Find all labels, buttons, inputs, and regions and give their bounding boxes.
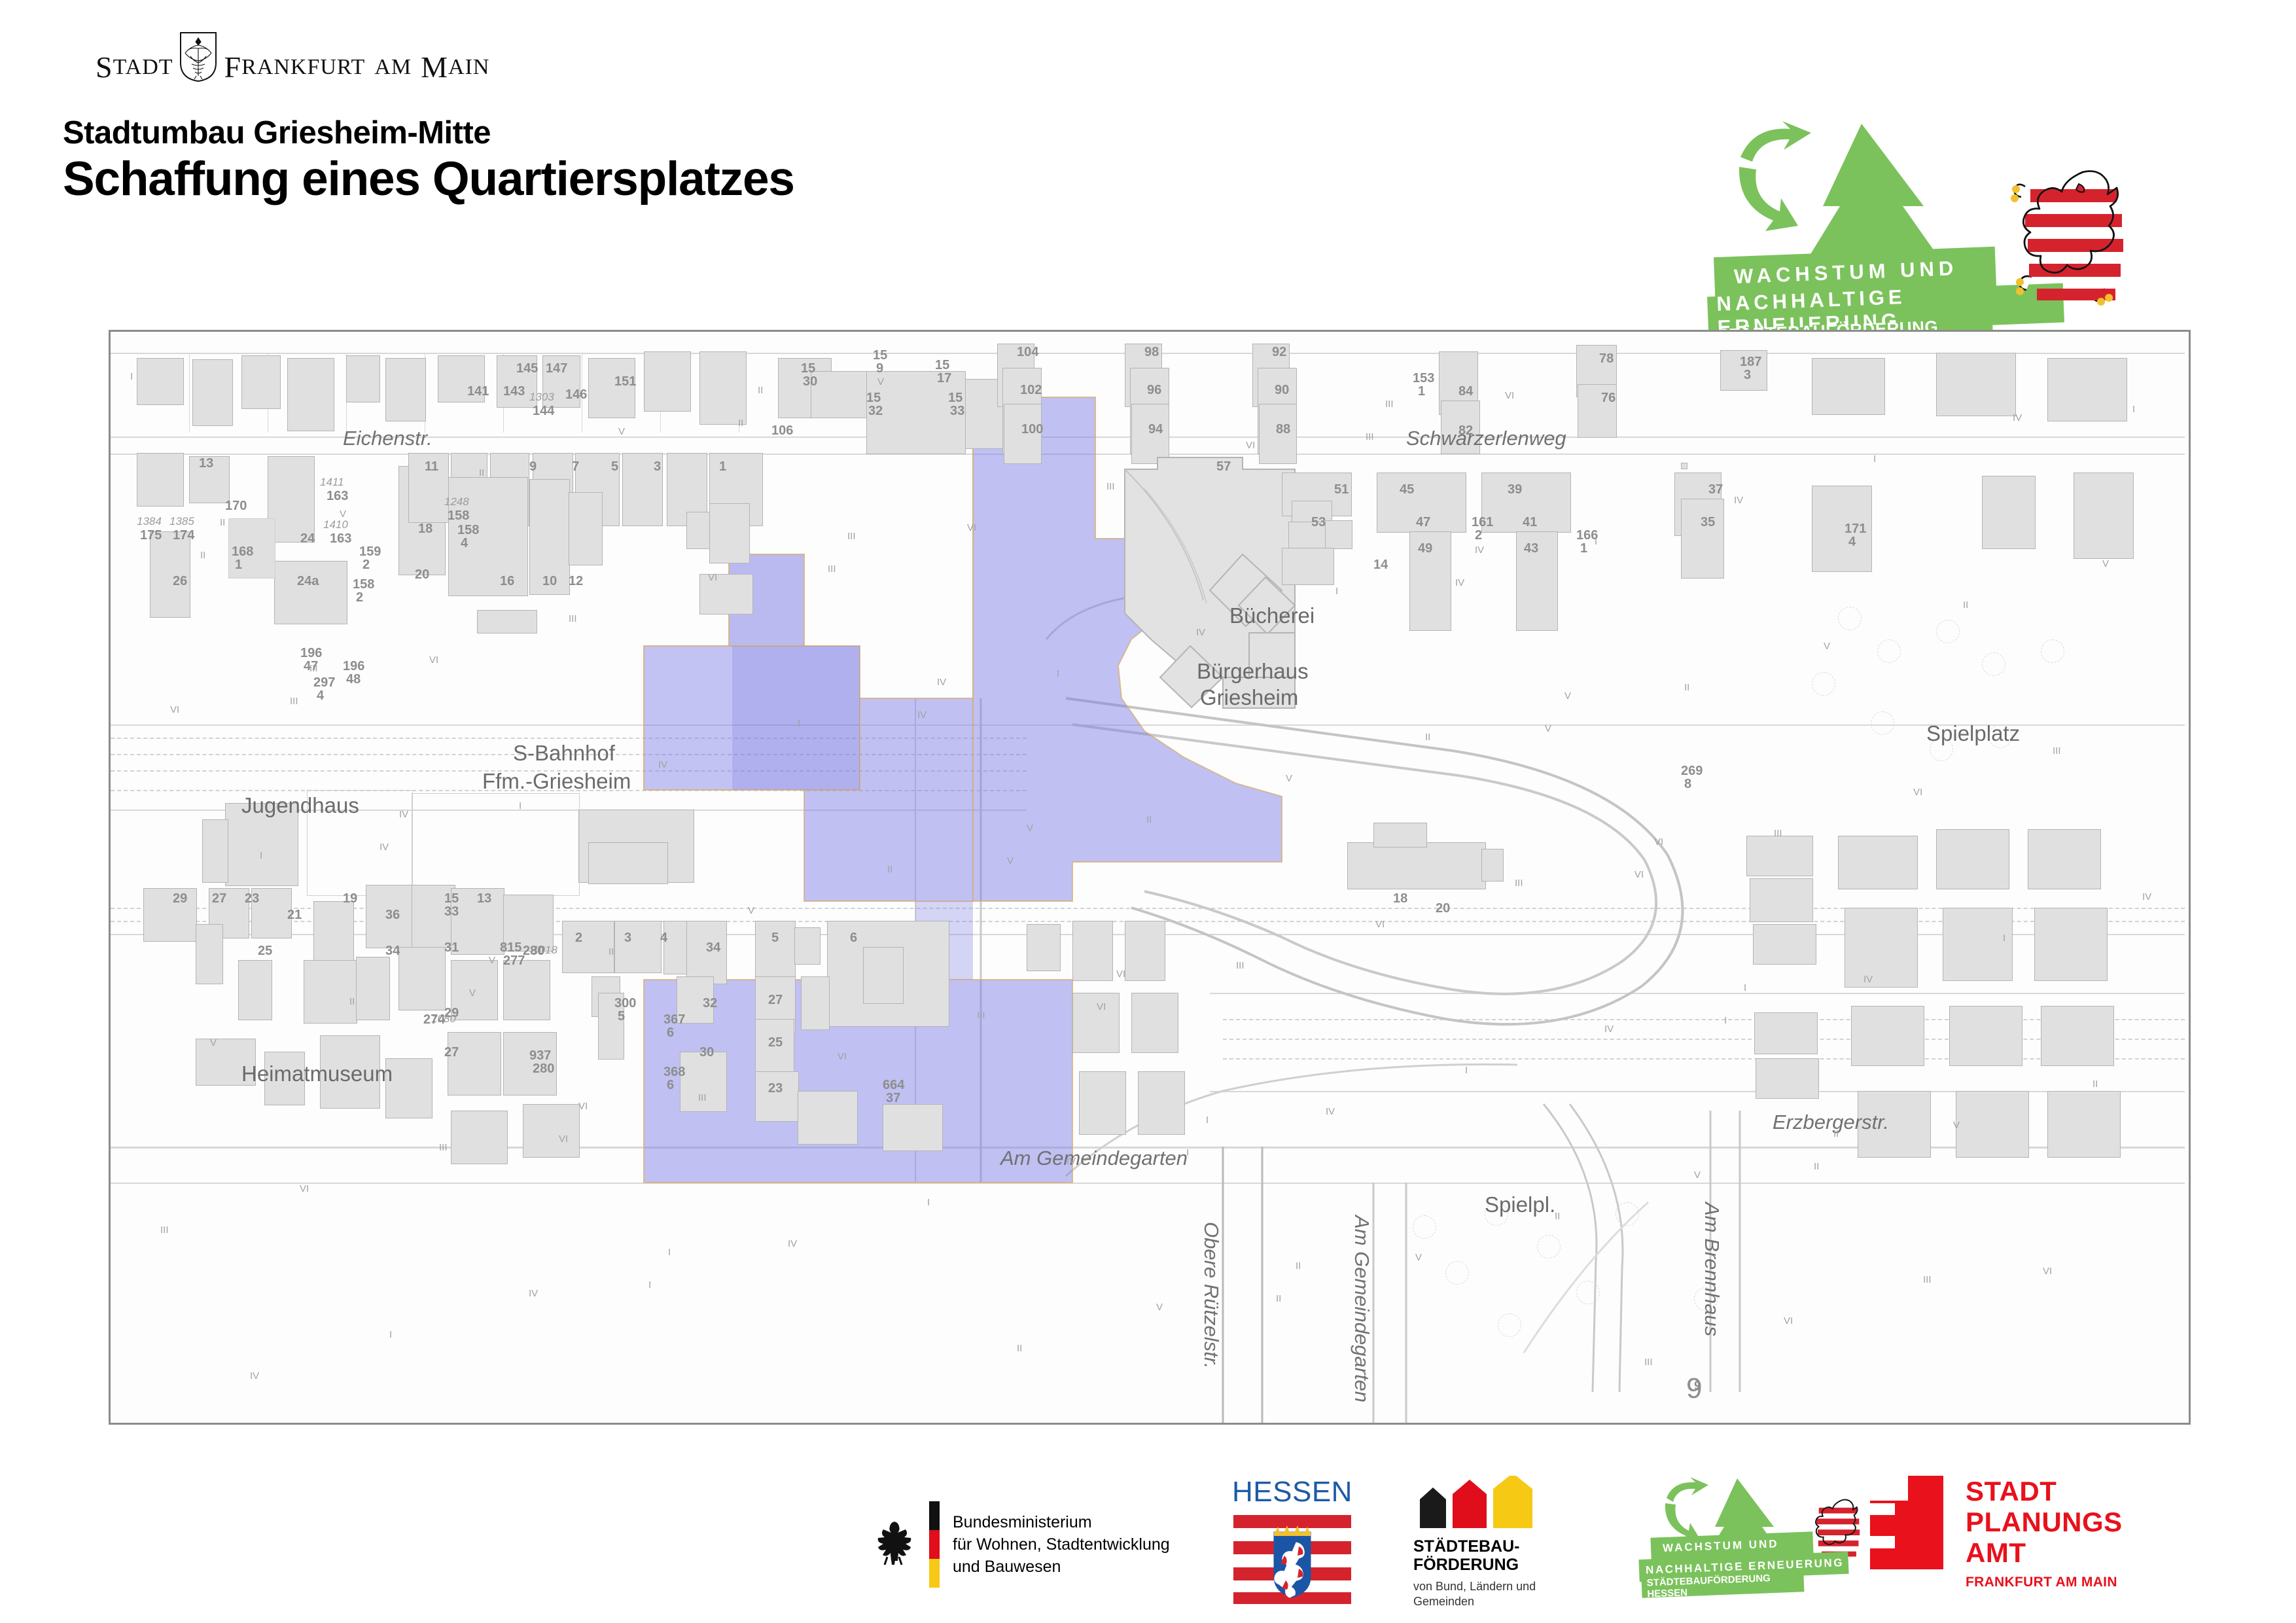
map-number: 5 [611,459,618,474]
storey-marker: III [2053,745,2061,757]
street-label: Am Brennhaus [1700,1202,1723,1336]
storey-marker: IV [1475,544,1484,556]
storey-marker: III [1774,828,1782,839]
map-number: 277 [503,954,525,969]
map-number: 5 [771,931,779,946]
storey-marker: I [1724,1015,1727,1026]
map-number: 141 [467,384,489,399]
street-label: Am Gemeindegarten [1350,1215,1373,1402]
storey-marker: III [439,1142,448,1153]
map-number: 30 [699,1045,714,1060]
map-number: 16 [500,574,514,589]
storey-marker: VI [1913,787,1922,798]
map-number: 33 [950,404,964,419]
storey-marker: V [1156,1302,1163,1313]
map-number: 7 [572,459,579,474]
map-number: 1411 [320,476,344,489]
map-number: 146 [565,387,587,402]
storey-marker: III [847,531,856,542]
city-logo-rankfurt: RANKFURT [241,52,365,82]
map-number: 17 [937,371,951,386]
storey-marker: I [1335,586,1338,597]
map-number: 2 [575,931,582,946]
place-label-sbahnhof: S-Bahnhof [513,741,615,766]
storey-marker: V [1286,773,1292,784]
storey-marker: IV [380,842,389,853]
map-number: 27 [768,993,783,1008]
city-logo-m: M [421,52,448,82]
map-number: 27 [444,1045,459,1060]
storey-marker: III [698,1092,707,1103]
storey-marker: I [2003,933,2005,944]
map-number: 36 [385,908,400,923]
map-number: 4 [461,536,468,551]
map-number: 84 [1458,384,1473,399]
storey-marker: IV [250,1370,259,1382]
storey-marker: V [1824,641,1830,652]
stbf-line2: FÖRDERUNG [1413,1556,1577,1574]
storey-marker: IV [917,709,927,721]
city-logo-ain: AIN [448,52,489,82]
map-number: 82 [1458,423,1473,438]
map-number: 96 [1147,383,1161,398]
map-number: 34 [706,940,720,955]
storey-marker: VI [1654,836,1663,847]
map-number: 280 [523,944,544,959]
storey-marker: I [1186,1147,1189,1158]
map-number: 280 [533,1061,554,1077]
map-number: 145 [516,361,538,376]
project-subtitle: Stadtumbau Griesheim-Mitte [63,115,491,151]
staedtebaufoerderung-title: STÄDTEBAU- FÖRDERUNG [1413,1537,1577,1574]
storey-marker: V [210,1037,217,1048]
stbf-sub2: Gemeinden [1413,1594,1577,1609]
map-number: 175 [140,528,162,543]
map-number: 53 [1311,515,1326,530]
storey-marker: I [927,1197,930,1208]
map-number: 27 [212,891,226,906]
storey-marker: III [977,1010,985,1021]
bmwsb-text: Bundesministerium für Wohnen, Stadtentwi… [953,1511,1170,1578]
stadtplanungsamt-logo: STADT PLANUNGS AMT FRANKFURT AM MAIN [1858,1476,2225,1613]
storey-marker: III [828,563,836,575]
map-number: 163 [330,531,351,546]
map-number: 170 [225,499,247,514]
storey-marker: II [1684,682,1689,693]
storey-marker: III [1236,960,1245,971]
map-number: 163 [327,489,348,504]
storey-marker: II [1833,1128,1839,1139]
place-label-heimatmuseum: Heimatmuseum [241,1061,393,1086]
map-canvas: Eichenstr. Schwarzerlenweg Erzbergerstr.… [111,332,2189,1423]
storey-marker: I [1873,454,1876,465]
map-number: 143 [503,384,525,399]
map-number: 57 [1216,459,1231,474]
map-number: 23 [245,891,259,906]
storey-marker: IV [2142,891,2151,902]
storey-marker: VI [300,1183,309,1194]
storey-marker: VI [1116,969,1125,980]
storey-marker: II [1276,1293,1281,1304]
map-number: 49 [1418,541,1432,556]
storey-marker: I [648,1279,651,1291]
program-logo-footer: WACHSTUM UND NACHHALTIGE ERNEUERUNG STÄD… [1633,1476,1894,1613]
storey-marker: II [1296,1260,1301,1272]
map-number: 90 [1275,383,1289,398]
storey-marker: VI [838,1051,847,1062]
map-number: 41 [1523,515,1537,530]
storey-marker: II [1017,1343,1022,1354]
bmwsb-logo: Bundesministerium für Wohnen, Stadtentwi… [870,1476,1184,1613]
hessen-lion-icon [2005,160,2136,311]
map-number: 8 [1684,777,1691,792]
cadastral-map[interactable]: Eichenstr. Schwarzerlenweg Erzbergerstr.… [109,330,2191,1425]
storey-marker: II [887,864,892,875]
street-label: Schwarzerlenweg [1406,427,1566,450]
storey-marker: III [569,613,577,624]
storey-marker: VI [967,522,976,533]
map-number: 4 [1848,535,1856,550]
map-number: 94 [1148,422,1163,437]
map-number: 33 [444,904,459,919]
storey-marker: II [1814,1161,1819,1172]
map-number: 12 [569,574,583,589]
storey-marker: IV [1863,974,1873,985]
bundesadler-icon [870,1518,916,1572]
street-label: Erzbergerstr. [1773,1111,1889,1134]
map-number: 24a [297,574,319,589]
storey-marker: V [489,955,495,966]
map-number: 76 [1601,391,1616,406]
city-logo-s: S [96,52,113,82]
map-number: 24 [300,531,315,546]
map-number: 1 [1418,384,1425,399]
staedtebaufoerderung-logo: STÄDTEBAU- FÖRDERUNG von Bund, Ländern u… [1407,1476,1577,1613]
storey-marker: II [1963,599,1968,611]
storey-marker: III [290,696,298,707]
storey-marker: V [1953,1120,1960,1131]
map-number: 37 [1708,482,1723,497]
map-number: 144 [533,404,554,419]
map-number: 151 [614,374,636,389]
map-number: 34 [385,944,400,959]
map-number: 1410 [323,518,348,531]
city-logo: S TADT F RANKFUR [96,31,489,82]
map-number: 18 [1393,891,1407,906]
page-header: S TADT F RANKFUR [0,0,2296,308]
storey-marker: III [1644,1357,1653,1368]
german-flag-bar-icon [929,1501,940,1588]
map-number: 5 [618,1009,625,1024]
map-number: 47 [1416,515,1430,530]
storey-marker: III [1385,399,1394,410]
storey-marker: III [309,663,318,674]
storey-marker: I [130,371,133,382]
map-number: 9 [876,361,883,376]
page-footer: Bundesministerium für Wohnen, Stadtentwi… [0,1476,2296,1623]
storey-marker: V [1545,723,1551,734]
map-number: 1384 [137,515,162,528]
stbf-sub1: von Bund, Ländern und [1413,1579,1577,1594]
city-logo-f: F [224,52,242,82]
place-label-griesheim: Griesheim [1200,685,1298,710]
storey-marker: II [479,467,484,478]
map-number: 26 [173,574,187,589]
storey-marker: V [1415,1252,1422,1263]
map-number: 11 [425,459,438,474]
storey-marker: IV [399,809,408,820]
storey-marker: VI [1505,390,1514,401]
storey-marker: I [1057,668,1059,679]
map-number: 9 [1694,1379,1701,1394]
storey-marker: VI [578,1101,588,1112]
stadtplanungsamt-mark-icon [1858,1476,1943,1569]
map-number: 88 [1276,422,1290,437]
bmwsb-line1: Bundesministerium [953,1511,1170,1533]
map-number: 1385 [169,515,194,528]
storey-marker: V [340,508,346,520]
map-number: 174 [173,528,194,543]
storey-marker: II [2093,1079,2098,1090]
storey-marker: V [748,905,754,916]
storey-marker: I [389,1329,392,1340]
storey-marker: I [1465,1065,1468,1076]
map-number: 6 [667,1026,674,1041]
place-label-jugendhaus: Jugendhaus [241,793,359,818]
map-number: 3 [1744,368,1751,383]
storey-marker: IV [2013,412,2022,423]
map-number: 37 [886,1091,900,1106]
storey-marker: II [1425,732,1430,743]
map-number: 104 [1017,345,1038,360]
storey-marker: I [1744,982,1746,993]
map-number: 30 [803,374,817,389]
storey-marker: V [877,376,884,387]
map-number: 6 [850,931,857,946]
stadtplanungsamt-text: STADT PLANUNGS AMT FRANKFURT AM MAIN [1966,1476,2123,1590]
street-label: Am Gemeindegarten [1000,1147,1188,1170]
place-label-buecherei: Bücherei [1229,603,1315,628]
three-houses-icon [1413,1476,1577,1528]
spa-sub: FRANKFURT AM MAIN [1966,1575,2123,1590]
storey-marker: II [349,996,355,1007]
storey-marker: I [668,1247,671,1258]
map-number: 13 [477,891,491,906]
bmwsb-line2: für Wohnen, Stadtentwicklung [953,1533,1170,1556]
hessen-word: HESSEN [1227,1476,1358,1508]
map-number: 10 [542,574,557,589]
storey-marker: IV [788,1238,797,1249]
storey-marker: IV [1734,495,1743,506]
storey-marker: I [260,850,262,861]
storey-marker: II [200,550,205,561]
street-label: Obere Rützelstr. [1199,1222,1223,1369]
map-number: 3 [654,459,661,474]
storey-marker: V [1694,1169,1701,1181]
bmwsb-line3: und Bauwesen [953,1556,1170,1578]
map-number: 1 [719,459,726,474]
storey-marker: II [758,385,763,396]
storey-marker: I [1595,536,1597,547]
storey-marker: IV [1326,1106,1335,1117]
map-number: 32 [703,996,717,1011]
map-number: 51 [1334,482,1349,497]
map-number: 1248 [444,495,469,508]
place-label-spielpl: Spielpl. [1485,1192,1555,1217]
street-label: Eichenstr. [343,427,433,450]
staedtebaufoerderung-sub: von Bund, Ländern und Gemeinden [1413,1579,1577,1609]
page-title: Schaffung eines Quartiersplatzes [63,152,794,206]
stbf-line1: STÄDTEBAU- [1413,1537,1577,1556]
map-number: 45 [1400,482,1414,497]
spa-line3: AMT [1966,1537,2123,1568]
map-number: 3 [624,931,631,946]
map-number: 25 [768,1035,783,1050]
map-number: 35 [1701,515,1715,530]
map-number: 18 [418,522,433,537]
map-number: 2 [362,558,370,573]
storey-marker: II [1146,814,1152,825]
storey-marker: IV [1455,577,1464,588]
storey-marker: VI [1246,440,1255,451]
map-number: 147 [546,361,567,376]
storey-marker: II [1555,1211,1560,1222]
storey-marker: VI [708,572,717,583]
storey-marker: V [1564,690,1571,702]
storey-marker: IV [1196,627,1205,638]
map-number: 29 [173,891,187,906]
storey-marker: VI [1634,869,1644,880]
storey-marker: II [220,517,225,528]
storey-marker: IV [937,677,946,688]
storey-marker: V [618,426,625,437]
map-number: 20 [415,567,429,582]
storey-marker: VI [429,654,438,666]
map-number: 1 [1580,541,1587,556]
map-number: 9 [529,459,537,474]
storey-marker: VI [559,1133,568,1145]
program-logo-footer-line3: STÄDTEBAUFÖRDERUNG HESSEN [1642,1573,1805,1597]
storey-marker: V [1007,855,1014,866]
storey-marker: III [1366,431,1374,442]
city-logo-am: AM [374,52,412,82]
map-number: 43 [1524,541,1538,556]
map-number: 21 [287,908,302,923]
storey-marker: I [798,718,800,729]
map-number: 100 [1021,422,1043,437]
storey-marker: VI [1375,919,1385,930]
storey-marker: I [2132,404,2135,415]
storey-marker: III [1106,481,1115,492]
place-label-buergerhaus: Bürgerhaus [1197,659,1309,684]
map-number: 32 [868,404,883,419]
storey-marker: II [609,946,614,957]
storey-marker: VI [2043,1266,2052,1277]
place-label-ffm-griesheim: Ffm.-Griesheim [482,769,631,794]
map-number: 92 [1272,345,1286,360]
place-label-spielplatz: Spielplatz [1926,721,2020,746]
map-number: 4 [317,688,324,704]
map-number: 158 [448,508,469,524]
storey-marker: III [1923,1274,1932,1285]
map-number: 102 [1020,383,1042,398]
spa-line2: PLANUNGS [1966,1507,2123,1537]
map-number: 4 [660,931,667,946]
city-logo-tadt: TADT [113,52,173,82]
storey-marker: V [1027,823,1033,834]
map-number: 31 [444,940,459,955]
storey-marker: II [738,418,743,429]
storey-marker: IV [1067,1156,1076,1167]
map-number: 78 [1599,351,1614,366]
map-number: 23 [768,1081,783,1096]
storey-marker: I [519,800,521,811]
map-number: 1303 [529,391,554,404]
storey-marker: III [160,1224,169,1236]
map-number: 274 [423,1012,445,1027]
map-number: 106 [771,423,793,438]
hessen-logo: HESSEN [1227,1476,1358,1613]
map-number: 19 [343,891,357,906]
map-number: 2 [1475,528,1482,543]
map-number: 25 [258,944,272,959]
storey-marker: VI [1784,1315,1793,1327]
map-number: 6 [667,1078,674,1093]
map-number: 2 [356,590,363,605]
spa-line1: STADT [1966,1476,2123,1507]
map-number: 1 [235,558,242,573]
storey-marker: I [1206,1115,1209,1126]
frankfurt-eagle-coat-of-arms-icon [179,31,218,82]
map-number: 14 [1373,558,1388,573]
map-number: 98 [1144,345,1159,360]
storey-marker: IV [1604,1024,1614,1035]
storey-marker: V [469,988,476,999]
map-number: 13 [199,456,213,471]
map-number: 48 [346,672,361,687]
storey-marker: V [2102,558,2109,569]
storey-marker: VI [170,704,179,715]
storey-marker: IV [658,759,667,770]
storey-marker: III [1515,878,1523,889]
map-number: 20 [1436,901,1450,916]
map-number: 39 [1508,482,1522,497]
storey-marker: VI [1097,1001,1106,1012]
hessen-flag-icon [1233,1514,1351,1605]
storey-marker: IV [529,1288,538,1299]
